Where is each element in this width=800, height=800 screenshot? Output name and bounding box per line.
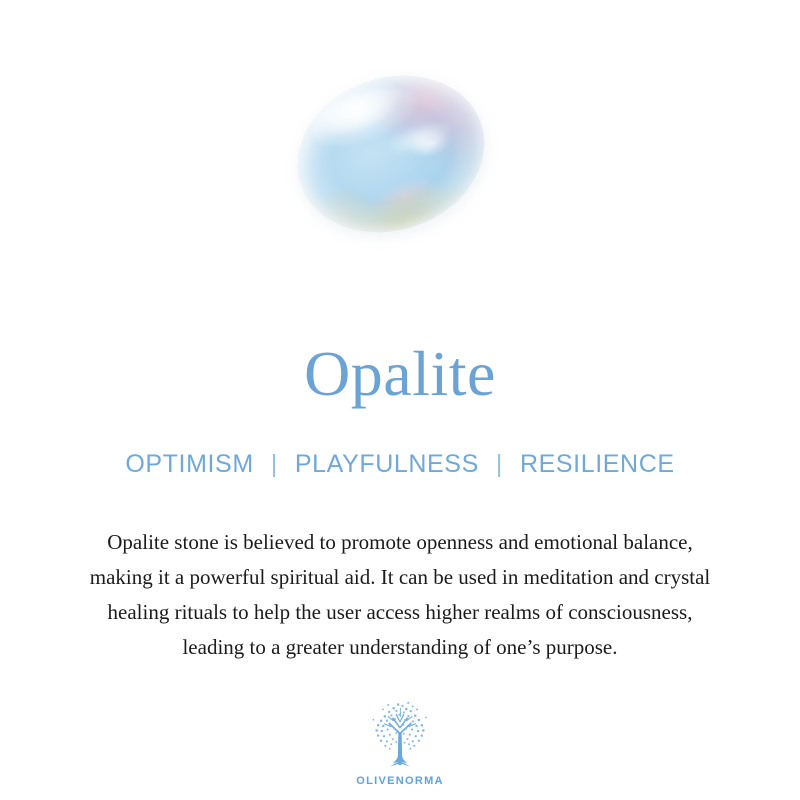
brand-logo: OLIVENORMA [356, 699, 444, 787]
keyword-list: OPTIMISM | PLAYFULNESS | RESILIENCE [125, 450, 674, 479]
description-line: making it a powerful spiritual aid. It c… [20, 560, 780, 595]
keyword-optimism: OPTIMISM [125, 450, 253, 479]
description-line: leading to a greater understanding of on… [20, 630, 780, 665]
brand-wordmark: OLIVENORMA [356, 775, 444, 787]
description-line: healing rituals to help the user access … [20, 595, 780, 630]
opalite-info-card: Opalite OPTIMISM | PLAYFULNESS | RESILIE… [0, 0, 800, 800]
keyword-resilience: RESILIENCE [520, 450, 675, 479]
stone-rim-glow [276, 51, 505, 257]
description-line: Opalite stone is believed to promote ope… [20, 525, 780, 560]
keyword-separator: | [271, 450, 278, 479]
keyword-separator: | [496, 450, 503, 479]
hero-image-area [0, 0, 800, 300]
tree-of-life-icon [363, 699, 437, 773]
page-title: Opalite [304, 342, 496, 406]
description-paragraph: Opalite stone is believed to promote ope… [20, 525, 780, 665]
opalite-stone-image [276, 51, 505, 257]
keyword-playfulness: PLAYFULNESS [295, 450, 479, 479]
